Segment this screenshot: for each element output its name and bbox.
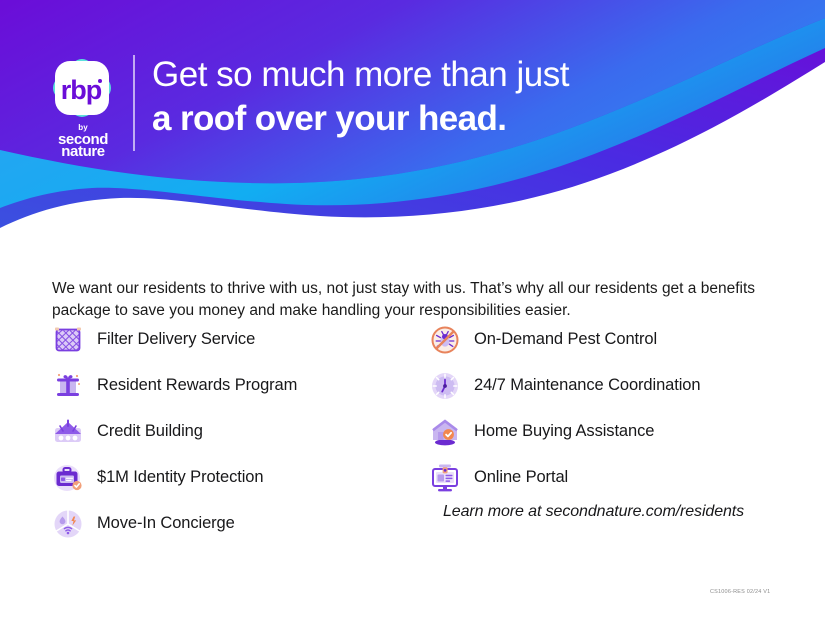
logo-wordmark: by second nature	[46, 124, 120, 159]
logo-rbp-text: rbp	[61, 75, 102, 105]
benefit-filter-delivery-service: Filter Delivery Service	[48, 318, 428, 361]
benefit-label: Resident Rewards Program	[97, 376, 297, 395]
benefit-label: Home Buying Assistance	[474, 422, 654, 441]
benefit-maintenance-coordination: 24/7 Maintenance Coordination	[425, 364, 805, 407]
credit-card-stars-icon	[48, 412, 88, 452]
benefit-label: Move-In Concierge	[97, 514, 235, 533]
no-bug-icon	[425, 320, 465, 360]
hero-banner: rbp by second nature Get so much more th…	[0, 0, 825, 240]
benefit-label: $1M Identity Protection	[97, 468, 263, 487]
clock-icon	[425, 366, 465, 406]
intro-paragraph: We want our residents to thrive with us,…	[52, 278, 758, 322]
benefit-home-buying-assistance: Home Buying Assistance	[425, 410, 805, 453]
monitor-icon	[425, 458, 465, 498]
utilities-circle-icon	[48, 504, 88, 544]
benefit-label: Filter Delivery Service	[97, 330, 255, 349]
benefit-online-portal: Online Portal	[425, 456, 805, 499]
rbp-logo-badge: rbp	[46, 52, 118, 124]
header-divider	[133, 55, 135, 151]
logo-registered-dot	[98, 79, 102, 83]
headline-line-1: Get so much more than just	[152, 56, 792, 93]
document-code: CS1006-RES 02/24 V1	[710, 589, 770, 595]
benefit-resident-rewards-program: Resident Rewards Program	[48, 364, 428, 407]
house-check-icon	[425, 412, 465, 452]
benefit-pest-control: On-Demand Pest Control	[425, 318, 805, 361]
briefcase-shield-icon	[48, 458, 88, 498]
learn-more-text: Learn more at secondnature.com/residents	[443, 503, 744, 521]
air-filter-icon	[48, 320, 88, 360]
benefit-label: Credit Building	[97, 422, 203, 441]
page-title: Get so much more than just a roof over y…	[152, 56, 792, 137]
benefit-label: On-Demand Pest Control	[474, 330, 657, 349]
benefit-identity-protection: $1M Identity Protection	[48, 456, 428, 499]
benefit-label: 24/7 Maintenance Coordination	[474, 376, 700, 395]
rbp-logo: rbp by second nature	[46, 52, 122, 152]
benefit-move-in-concierge: Move-In Concierge	[48, 502, 428, 545]
benefit-label: Online Portal	[474, 468, 568, 487]
gift-icon	[48, 366, 88, 406]
headline-line-2: a roof over your head.	[152, 100, 792, 137]
benefits-column-right: On-Demand Pest Control 24/7 Maintenance …	[425, 318, 805, 502]
benefit-credit-building: Credit Building	[48, 410, 428, 453]
benefits-column-left: Filter Delivery Service Resident Rewa	[48, 318, 428, 548]
